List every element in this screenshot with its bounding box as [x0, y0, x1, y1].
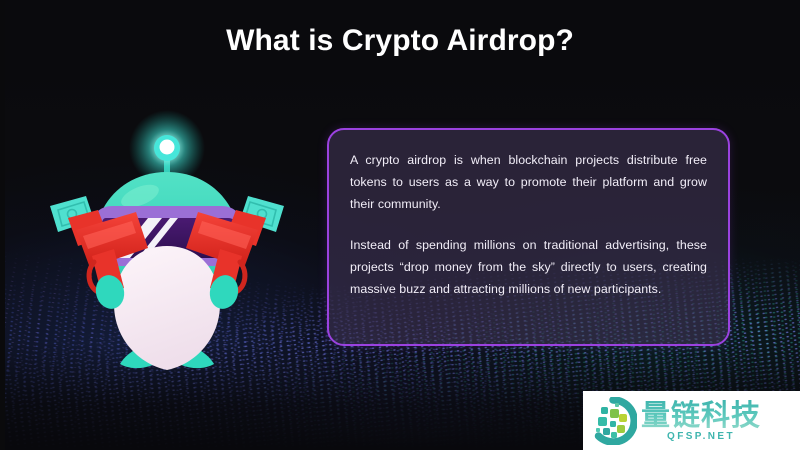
left-edge-strip: [0, 0, 5, 450]
brand-url: QFSP.NET: [641, 431, 761, 442]
antenna-core: [160, 140, 175, 155]
robot-mascot: [28, 106, 308, 374]
brand-logo-icon: [589, 397, 637, 445]
mascot-belly: [114, 246, 220, 370]
paragraph-context: Instead of spending millions on traditio…: [350, 234, 707, 301]
paragraph-definition: A crypto airdrop is when blockchain proj…: [350, 149, 707, 216]
slide-canvas: What is Crypto Airdrop?: [0, 0, 800, 450]
watermark-logo: 量链科技 QFSP.NET: [583, 391, 800, 450]
brand-name-cn: 量链科技: [641, 400, 761, 430]
page-title: What is Crypto Airdrop?: [0, 24, 800, 58]
brand-text: 量链科技 QFSP.NET: [641, 400, 761, 442]
description-panel: A crypto airdrop is when blockchain proj…: [327, 128, 730, 346]
